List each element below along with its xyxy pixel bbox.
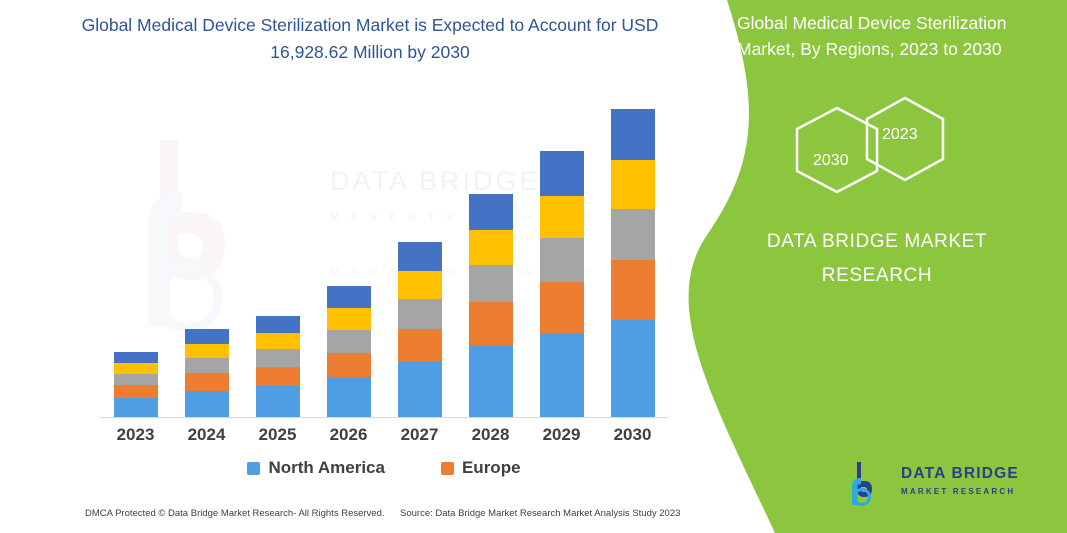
x-axis-label: 2029 <box>522 425 602 445</box>
bar-segment <box>256 386 300 417</box>
hex-label-2030: 2030 <box>813 152 849 170</box>
bar-segment <box>469 230 513 265</box>
bar-segment <box>114 374 158 385</box>
bar-group <box>540 151 584 417</box>
bar-segment <box>327 377 371 417</box>
bar-segment <box>611 109 655 160</box>
bar-segment <box>327 286 371 308</box>
bar-segment <box>398 299 442 329</box>
legend-label: Europe <box>462 458 521 478</box>
footer-copyright: DMCA Protected © Data Bridge Market Rese… <box>85 508 385 519</box>
bar-segment <box>540 282 584 333</box>
footer: DMCA Protected © Data Bridge Market Rese… <box>0 505 700 531</box>
bar-segment <box>540 151 584 195</box>
bar-segment <box>256 316 300 334</box>
brand-line-2: RESEARCH <box>707 259 1047 293</box>
dbmr-logo-line-1: DATA BRIDGE <box>901 465 1051 483</box>
x-axis-label: 2024 <box>167 425 247 445</box>
bar-segment <box>540 196 584 238</box>
x-axis-label: 2030 <box>593 425 673 445</box>
bar-group <box>398 242 442 417</box>
legend-label: North America <box>268 458 385 478</box>
hex-label-2023: 2023 <box>882 126 918 144</box>
bar-segment <box>185 373 229 391</box>
bar-segment <box>114 398 158 417</box>
x-axis-label: 2025 <box>238 425 318 445</box>
page-title: Global Medical Device Sterilization Mark… <box>60 12 680 66</box>
bar-group <box>114 352 158 417</box>
legend-item[interactable]: Europe <box>441 458 521 478</box>
legend-item[interactable]: North America <box>247 458 385 478</box>
footer-source: Source: Data Bridge Market Research Mark… <box>400 508 680 519</box>
bar-segment <box>327 330 371 353</box>
brand-line-1: DATA BRIDGE MARKET <box>707 225 1047 259</box>
bar-segment <box>185 329 229 344</box>
legend-swatch <box>247 462 260 475</box>
dbmr-logo-line-2: MARKET RESEARCH <box>901 487 1051 496</box>
bar-segment <box>114 352 158 363</box>
bar-segment <box>398 271 442 298</box>
x-axis-tick-labels: 20232024202520262027202820292030 <box>100 425 668 455</box>
chart-panel: Global Medical Device Sterilization Mark… <box>0 0 735 533</box>
bar-segment <box>398 242 442 271</box>
bar-segment <box>611 320 655 417</box>
bar-segment <box>469 194 513 230</box>
right-panel-title: Global Medical Device Sterilization Mark… <box>737 10 1047 62</box>
dbmr-logo-text: DATA BRIDGE MARKET RESEARCH <box>901 465 1051 496</box>
legend-swatch <box>441 462 454 475</box>
bar-segment <box>611 260 655 320</box>
bar-segment <box>611 160 655 209</box>
infographic-page: Global Medical Device Sterilization Mark… <box>0 0 1067 533</box>
dbmr-logo: DATA BRIDGE MARKET RESEARCH <box>845 459 1045 511</box>
bar-segment <box>114 363 158 374</box>
dbmr-logo-icon <box>845 459 893 507</box>
x-axis-label: 2023 <box>96 425 176 445</box>
chart-legend: North AmericaEurope <box>100 455 668 481</box>
x-axis-label: 2028 <box>451 425 531 445</box>
bar-segment <box>185 358 229 373</box>
bar-segment <box>469 345 513 417</box>
bar-group <box>256 316 300 417</box>
bar-segment <box>327 308 371 329</box>
x-axis-label: 2026 <box>309 425 389 445</box>
x-axis-label: 2027 <box>380 425 460 445</box>
bar-segment <box>398 362 442 417</box>
bar-segment <box>469 265 513 302</box>
bar-segment <box>540 238 584 282</box>
bar-segment <box>256 349 300 367</box>
bar-segment <box>398 329 442 363</box>
bar-segment <box>327 353 371 378</box>
bar-chart-plot <box>100 95 668 417</box>
hexagon-group: 2030 2023 <box>777 96 1037 206</box>
right-green-panel: Global Medical Device Sterilization Mark… <box>667 0 1067 533</box>
bar-group <box>469 194 513 417</box>
bar-segment <box>256 367 300 386</box>
bar-segment <box>185 391 229 417</box>
right-panel-content: Global Medical Device Sterilization Mark… <box>667 0 1067 533</box>
x-axis-line <box>100 417 668 418</box>
bar-group <box>327 286 371 417</box>
bar-segment <box>256 333 300 349</box>
bar-segment <box>469 302 513 344</box>
right-panel-brand: DATA BRIDGE MARKET RESEARCH <box>707 225 1047 293</box>
hexagon-icons <box>777 96 1037 206</box>
bar-segment <box>114 385 158 397</box>
bar-segment <box>540 333 584 417</box>
bar-group <box>611 109 655 417</box>
bar-segment <box>611 209 655 260</box>
bar-segment <box>185 344 229 358</box>
bar-group <box>185 329 229 417</box>
